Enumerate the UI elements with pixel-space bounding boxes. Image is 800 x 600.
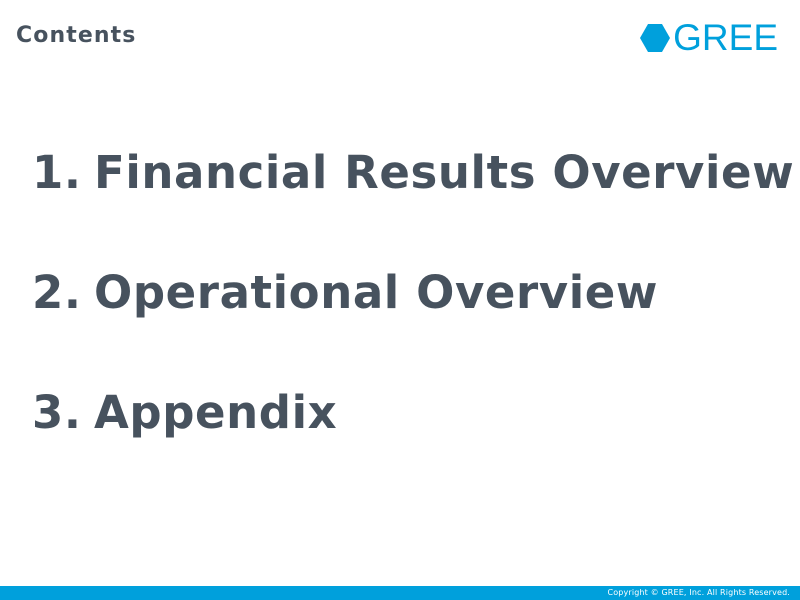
copyright-text: Copyright © GREE, Inc. All Rights Reserv… — [607, 589, 800, 597]
list-item[interactable]: 1. Financial Results Overview — [32, 150, 772, 270]
agenda-list: 1. Financial Results Overview 2. Operati… — [32, 150, 772, 510]
list-item-number: 3. — [32, 390, 94, 436]
list-item-label: Operational Overview — [94, 270, 658, 316]
list-item[interactable]: 2. Operational Overview — [32, 270, 772, 390]
hexagon-icon — [640, 22, 670, 54]
list-item-number: 1. — [32, 150, 94, 196]
brand-name: GREE — [673, 19, 778, 56]
list-item[interactable]: 3. Appendix — [32, 390, 772, 510]
list-item-label: Appendix — [94, 390, 337, 436]
page-title: Contents — [16, 25, 136, 47]
list-item-label: Financial Results Overview — [94, 150, 794, 196]
brand-logo: GREE — [640, 18, 778, 58]
presentation-slide: Contents GREE 1. Financial Results Overv… — [0, 0, 800, 600]
list-item-number: 2. — [32, 270, 94, 316]
footer-bar: Copyright © GREE, Inc. All Rights Reserv… — [0, 586, 800, 600]
